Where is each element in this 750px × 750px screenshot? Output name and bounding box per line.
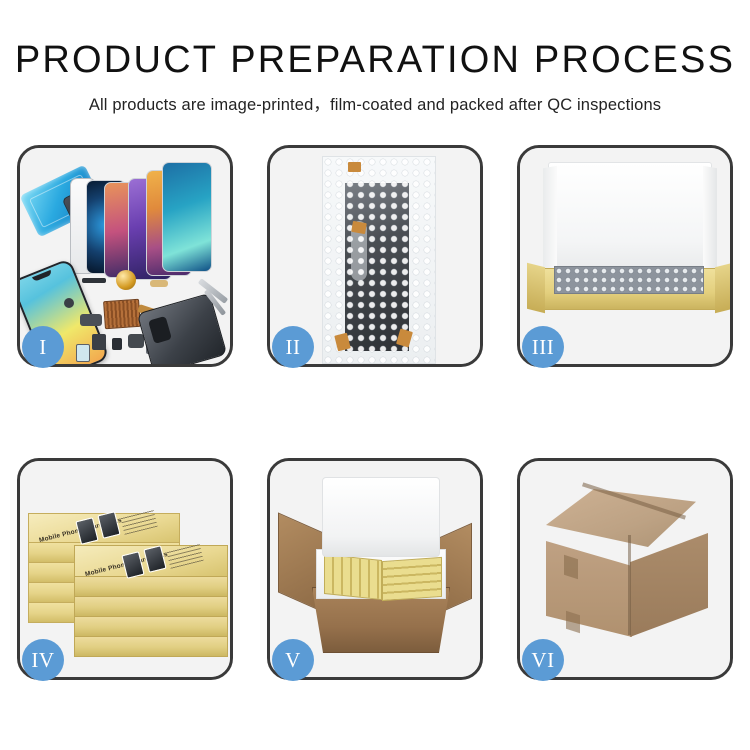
carton-tape-icon-2 (566, 611, 580, 634)
step-badge-6: VI (522, 639, 564, 681)
step-badge-3: III (522, 326, 564, 368)
step-card-5: V (267, 458, 483, 680)
phone-display-icon-5 (162, 162, 212, 272)
yellow-boxes-row-1 (324, 554, 382, 600)
phone-screen-stack (84, 160, 224, 290)
bubble-texture (323, 157, 435, 363)
carton-side-face (630, 533, 708, 637)
component-icon-1 (82, 278, 106, 283)
bubble-wrapped-contents (554, 266, 704, 294)
component-icon-5 (92, 334, 106, 350)
carton-tape-icon-1 (564, 555, 578, 580)
tape-strip-icon-1 (348, 162, 361, 172)
step-card-3: III (517, 145, 733, 367)
coil-component-icon (116, 270, 136, 290)
process-steps-grid: I II III (17, 145, 733, 680)
stacked-box-icon-7 (74, 595, 228, 617)
step-badge-5: V (272, 639, 314, 681)
step-card-4: Mobile Phone Spare Parts Mobile Phone Sp… (17, 458, 233, 680)
bubble-wrap-bag (322, 156, 436, 364)
page-header: PRODUCT PREPARATION PROCESS All products… (0, 0, 750, 115)
stacked-box-icon-6 (74, 615, 228, 637)
page-subtitle: All products are image-printed，film-coat… (0, 91, 750, 115)
component-icon-4 (150, 280, 168, 287)
foam-lid-open-icon (322, 477, 440, 557)
component-icon-6 (112, 338, 122, 350)
carton-front-face (546, 541, 632, 637)
page-title: PRODUCT PREPARATION PROCESS (0, 38, 750, 82)
yellow-boxes-row-2 (382, 557, 442, 601)
step-card-6: VI (517, 458, 733, 680)
chip-component-icon (103, 299, 141, 329)
carton-edge (628, 535, 631, 635)
tape-strip-icon-2 (351, 221, 367, 234)
camera-lens-icon (64, 298, 74, 308)
component-icon-7 (128, 334, 144, 348)
stacked-box-icon-5 (74, 635, 228, 657)
step-badge-1: I (22, 326, 64, 368)
step-badge-2: II (272, 326, 314, 368)
stacked-box-icon-8 (74, 575, 228, 597)
foam-lid-icon (548, 162, 712, 276)
step-card-1: I (17, 145, 233, 367)
step-badge-4: IV (22, 639, 64, 681)
component-icon-2 (80, 314, 102, 326)
step-card-2: II (267, 145, 483, 367)
component-icon-8 (76, 344, 90, 362)
